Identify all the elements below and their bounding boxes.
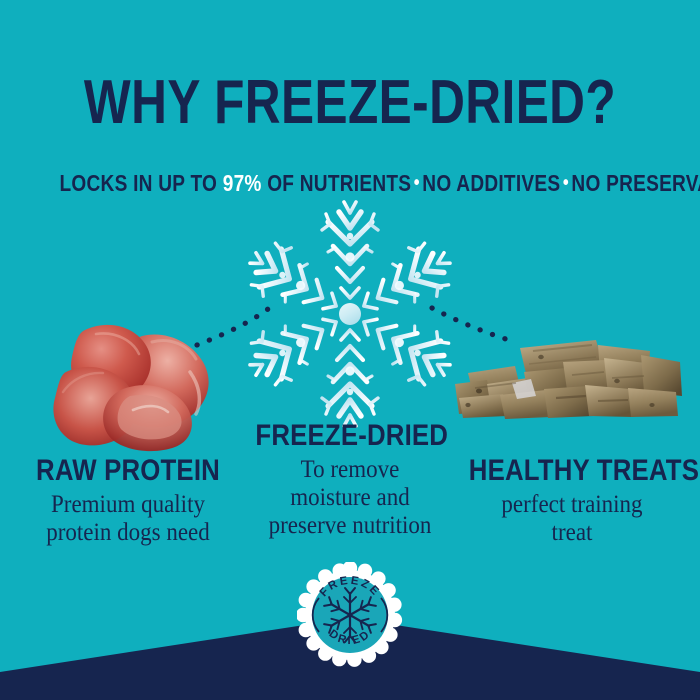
claim-nutrients-before: LOCKS IN UP TO — [60, 170, 223, 196]
feature-title-healthy-treats: HEALTHY TREATS — [469, 455, 675, 487]
feature-body-healthy-treats: perfect training treat — [462, 491, 683, 547]
dotted-connector-right — [432, 308, 512, 341]
freeze-dried-treats-photo — [455, 340, 682, 419]
freeze-dried-seal-badge: FREEZE DRIED — [297, 562, 403, 668]
claim-nutrient-percentage: 97% — [223, 170, 262, 196]
feature-body-line: moisture and — [249, 484, 451, 512]
feature-healthy-treats: HEALTHY TREATS perfect training treat — [452, 455, 692, 547]
feature-raw-protein: RAW PROTEIN Premium quality protein dogs… — [8, 455, 248, 547]
dotted-connector-left — [197, 309, 268, 345]
page-title: WHY FREEZE-DRIED? — [70, 72, 630, 134]
claim-separator-1: • — [411, 172, 422, 194]
feature-body-line: treat — [462, 519, 683, 547]
feature-freeze-dried: FREEZE-DRIED To remove moisture and pres… — [240, 420, 460, 540]
claim-no-preservatives: NO PRESERVATIVES — [571, 170, 700, 196]
claim-separator-2: • — [560, 172, 571, 194]
subtitle-claims: LOCKS IN UP TO 97% OF NUTRIENTS•NO ADDIT… — [60, 171, 641, 197]
feature-body-raw-protein: Premium quality protein dogs need — [18, 491, 239, 547]
claim-no-additives: NO ADDITIVES — [422, 170, 560, 196]
feature-body-line: preserve nutrition — [249, 512, 451, 540]
feature-body-line: Premium quality — [18, 491, 239, 519]
feature-title-raw-protein: RAW PROTEIN — [25, 455, 231, 487]
feature-body-freeze-dried: To remove moisture and preserve nutritio… — [249, 456, 451, 540]
claim-nutrients-after: OF NUTRIENTS — [262, 170, 412, 196]
raw-meat-photo — [53, 325, 208, 451]
snowflake-graphic — [239, 202, 461, 426]
feature-body-line: To remove — [249, 456, 451, 484]
feature-body-line: protein dogs need — [18, 519, 239, 547]
feature-title-freeze-dried: FREEZE-DRIED — [255, 420, 444, 452]
infographic-poster: WHY FREEZE-DRIED? LOCKS IN UP TO 97% OF … — [0, 0, 700, 700]
feature-body-line: perfect training — [462, 491, 683, 519]
